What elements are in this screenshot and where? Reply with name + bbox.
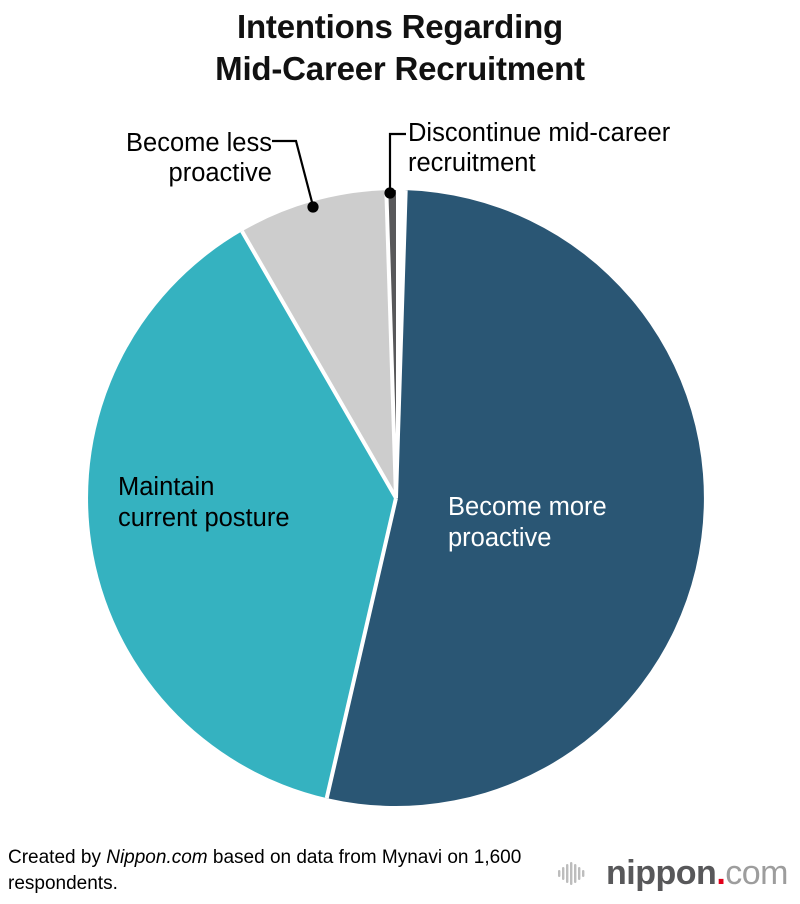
brand-logo: nippon.com: [557, 856, 788, 890]
leader-line-discontinue: [384, 134, 406, 199]
callout-label-become-less-proactive: Become less proactive: [42, 128, 272, 188]
slice-label-become-more-proactive: Become more proactive: [448, 492, 708, 553]
sound-bars-icon: [557, 858, 597, 888]
brand-wordmark: nippon.com: [606, 856, 788, 890]
source-publisher: Nippon.com: [106, 847, 207, 868]
source-attribution: Created by Nippon.com based on data from…: [8, 845, 528, 897]
brand-dot: .: [716, 854, 725, 892]
brand-name: nippon: [606, 854, 716, 892]
callout-label-discontinue-mid-career-recruitment: Discontinue mid-career recruitment: [408, 118, 778, 178]
pie-chart-figure: Intentions Regarding Mid-Career Recruitm…: [0, 0, 800, 904]
brand-tld: com: [725, 854, 788, 892]
leader-line-become-less-proactive: [272, 141, 319, 213]
source-prefix: Created by: [8, 847, 106, 868]
slice-label-maintain-current-posture: Maintain current posture: [118, 472, 398, 533]
